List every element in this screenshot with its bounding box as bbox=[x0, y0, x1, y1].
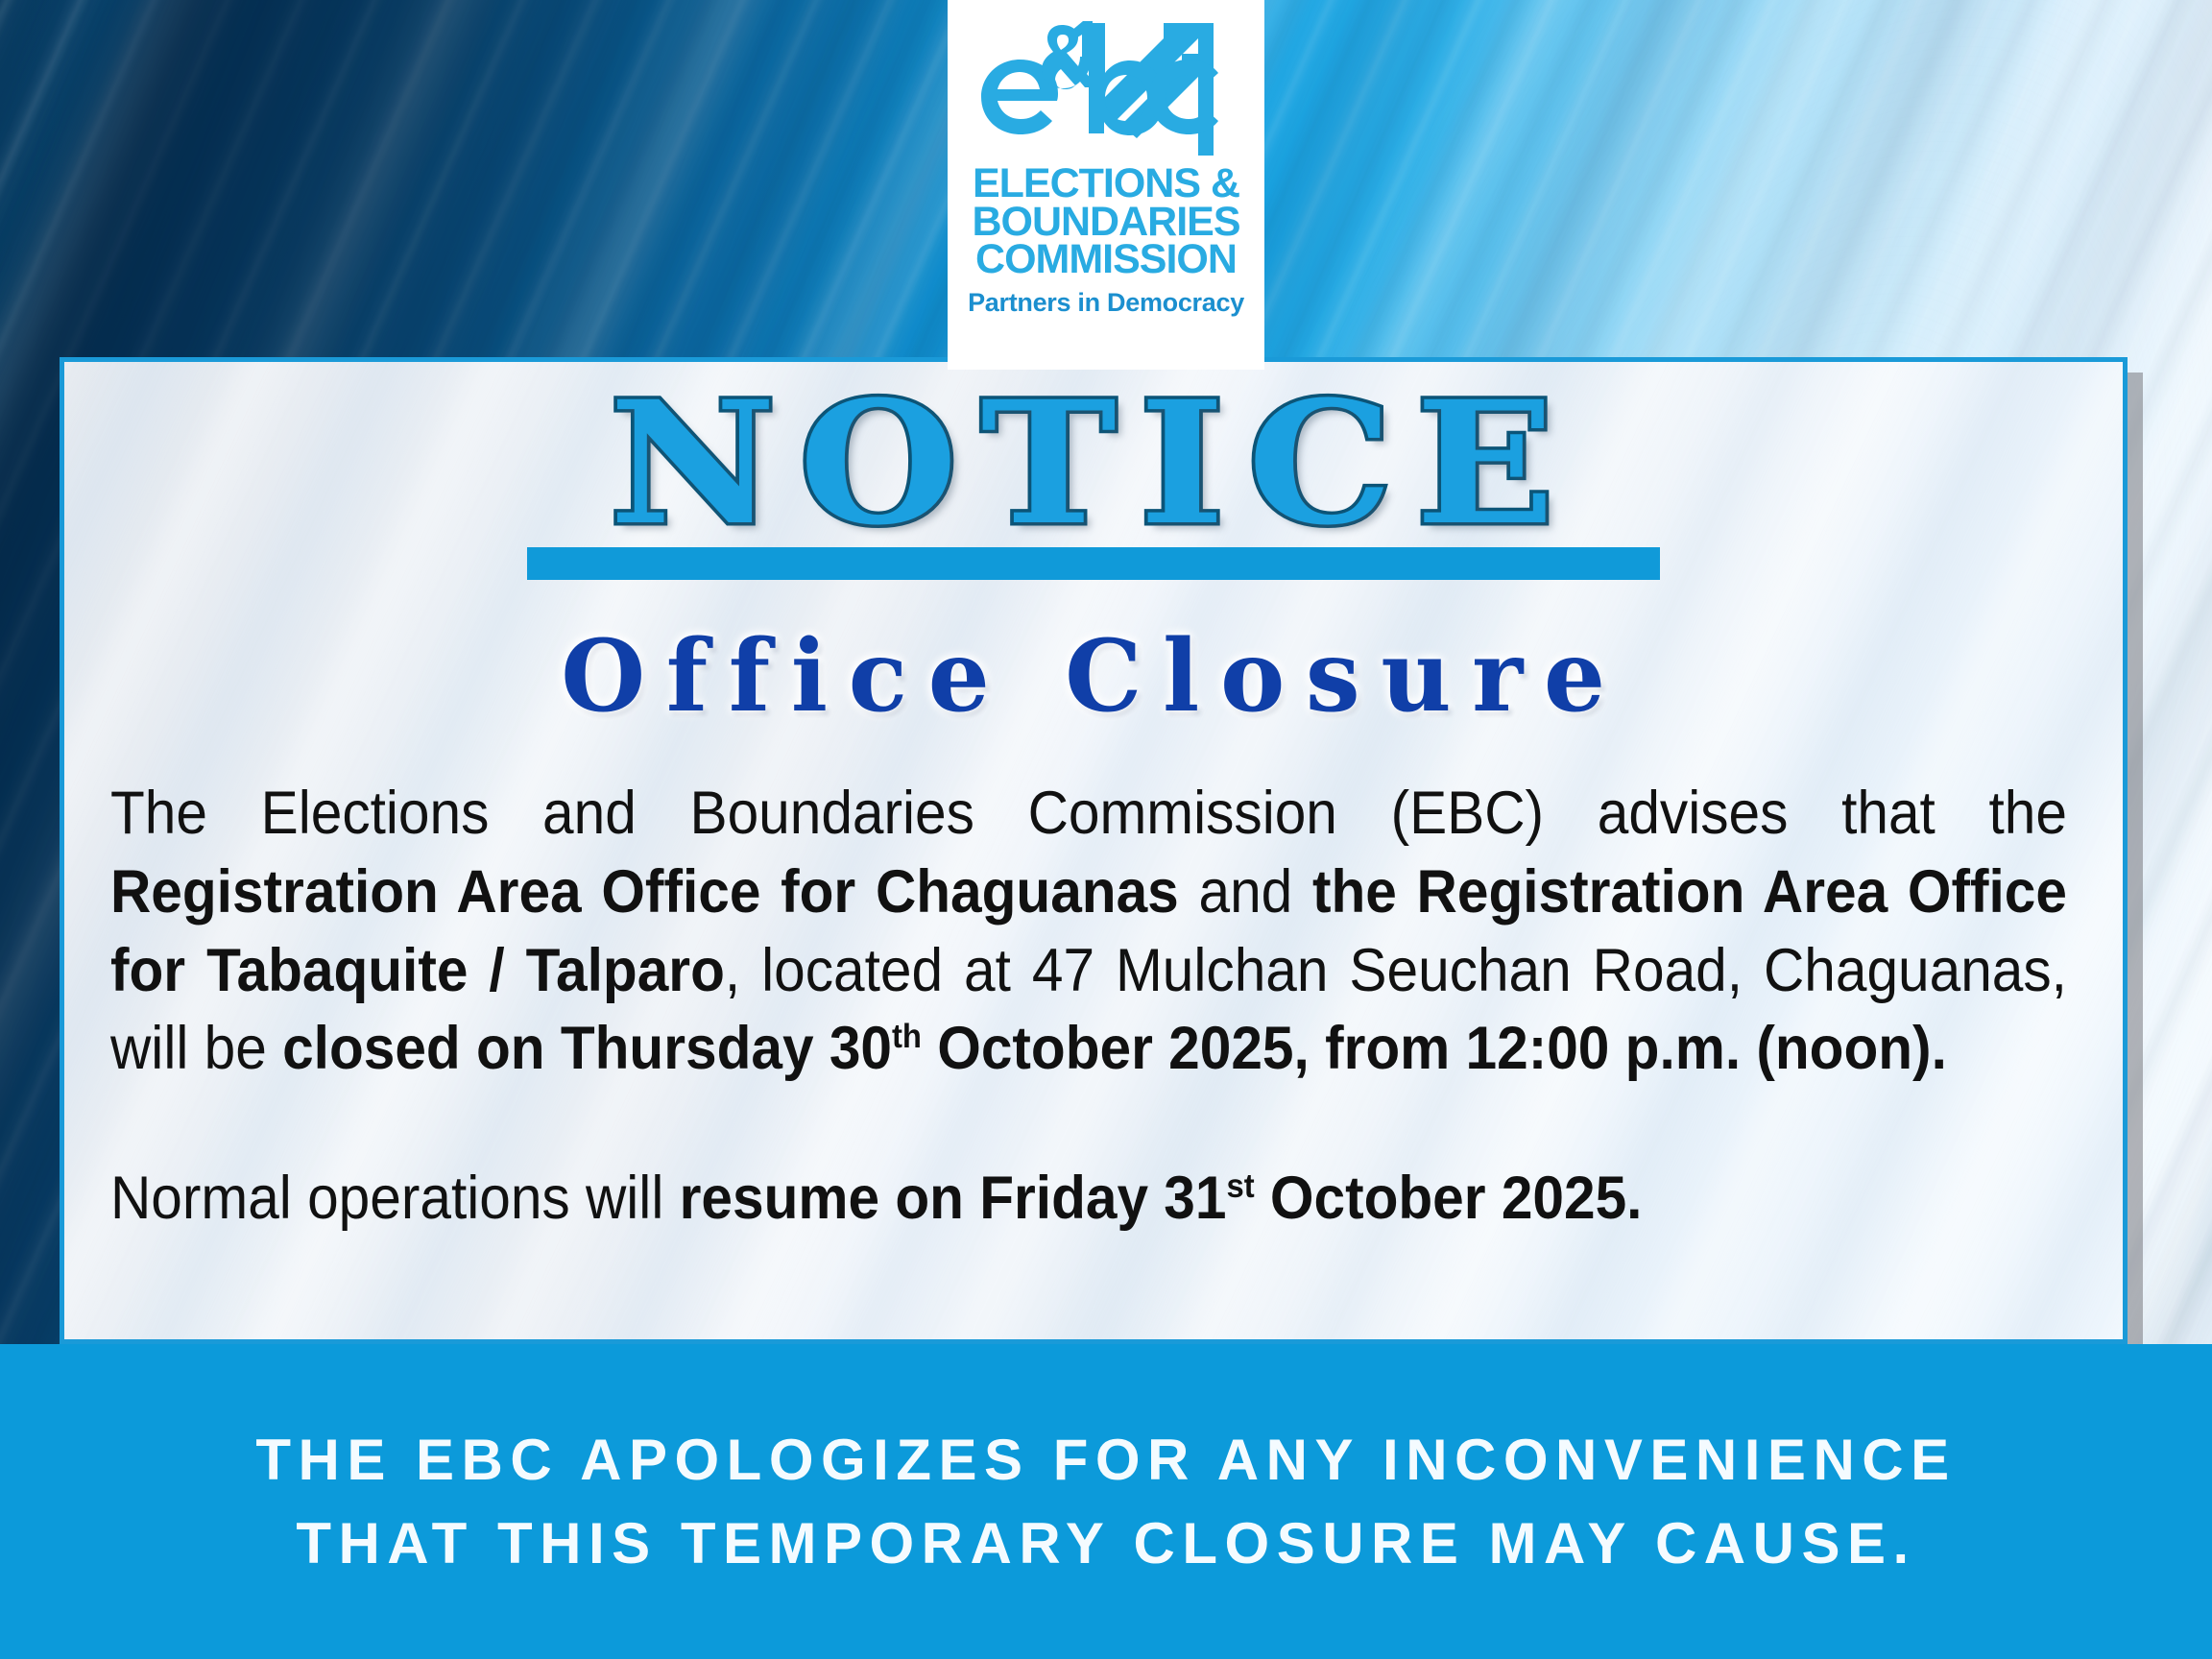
notice-body-paragraph-1: The Elections and Boundaries Commission … bbox=[110, 775, 2067, 1090]
closure-date-text: closed on Thursday 30 bbox=[282, 1015, 892, 1082]
notice-body-paragraph-2: Normal operations will resume on Friday … bbox=[110, 1160, 2067, 1238]
apology-banner-line-2: THAT THIS TEMPORARY CLOSURE MAY CAUSE. bbox=[296, 1502, 1915, 1585]
logo-name-line-3: COMMISSION bbox=[972, 241, 1239, 279]
apology-banner: THE EBC APOLOGIZES FOR ANY INCONVENIENCE… bbox=[0, 1344, 2212, 1659]
apology-banner-line-1: THE EBC APOLOGIZES FOR ANY INCONVENIENCE bbox=[255, 1418, 1956, 1502]
page-subtitle: Office Closure bbox=[130, 618, 2056, 734]
body-bold-chaguanas-office: Registration Area Office for Chaguanas bbox=[110, 858, 1179, 926]
closure-date-ordinal: th bbox=[892, 1018, 922, 1055]
notice-card: NOTICE Office Closure The Elections and … bbox=[60, 357, 2128, 1344]
page-title: NOTICE bbox=[610, 375, 1577, 553]
ebc-logo: ELECTIONS & BOUNDARIES COMMISSION Partne… bbox=[948, 0, 1264, 370]
logo-wordmark: ELECTIONS & BOUNDARIES COMMISSION bbox=[972, 165, 1239, 279]
logo-name-line-1: ELECTIONS & bbox=[972, 165, 1239, 204]
ebc-monogram-icon bbox=[975, 17, 1237, 161]
resume-text-segment: Normal operations will bbox=[110, 1165, 680, 1232]
body-text-segment-2: and bbox=[1179, 858, 1312, 926]
closure-time-text: October 2025, from 12:00 p.m. (noon). bbox=[922, 1015, 1947, 1082]
logo-tagline: Partners in Democracy bbox=[968, 288, 1244, 318]
resume-date-ordinal: st bbox=[1226, 1167, 1254, 1205]
body-bold-closure-date: closed on Thursday 30th October 2025, fr… bbox=[282, 1015, 1947, 1082]
body-bold-resume-date: resume on Friday 31st October 2025. bbox=[680, 1165, 1643, 1232]
resume-date-month: October 2025. bbox=[1255, 1165, 1643, 1232]
resume-date-text: resume on Friday 31 bbox=[680, 1165, 1227, 1232]
notice-title-block: NOTICE bbox=[110, 375, 2077, 553]
body-text-segment-1: The Elections and Boundaries Commission … bbox=[110, 780, 2067, 847]
